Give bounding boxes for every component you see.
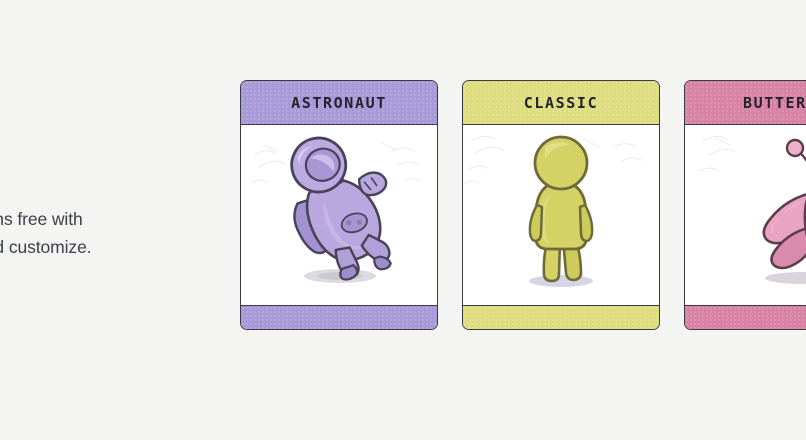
page-title: atars — [0, 96, 212, 139]
card-title-astronaut: ASTRONAUT — [291, 94, 387, 112]
card-footer-astronaut — [241, 305, 437, 329]
avatar-figure-butterfly — [685, 125, 806, 305]
page-description: heir imaginations free with they design … — [0, 139, 212, 262]
card-header-classic: CLASSIC — [463, 81, 659, 125]
card-footer-classic — [463, 305, 659, 329]
card-body-classic — [463, 125, 659, 305]
avatar-card-list: ASTRONAUT — [240, 80, 806, 330]
description-line-2: they design and customize. — [0, 237, 91, 257]
intro-text-column: atars heir imaginations free with they d… — [0, 96, 212, 262]
card-header-butterfly: BUTTER — [685, 81, 806, 125]
description-line-1: heir imaginations free with — [0, 209, 83, 229]
avatar-card-butterfly[interactable]: BUTTER — [684, 80, 806, 330]
card-title-classic: CLASSIC — [524, 94, 598, 112]
avatar-figure-astronaut — [241, 125, 437, 305]
card-header-astronaut: ASTRONAUT — [241, 81, 437, 125]
card-footer-butterfly — [685, 305, 806, 329]
card-title-butterfly: BUTTER — [743, 94, 806, 112]
avatar-figure-classic — [463, 125, 659, 305]
card-body-butterfly — [685, 125, 806, 305]
card-body-astronaut — [241, 125, 437, 305]
avatar-card-classic[interactable]: CLASSIC — [462, 80, 660, 330]
avatar-card-astronaut[interactable]: ASTRONAUT — [240, 80, 438, 330]
